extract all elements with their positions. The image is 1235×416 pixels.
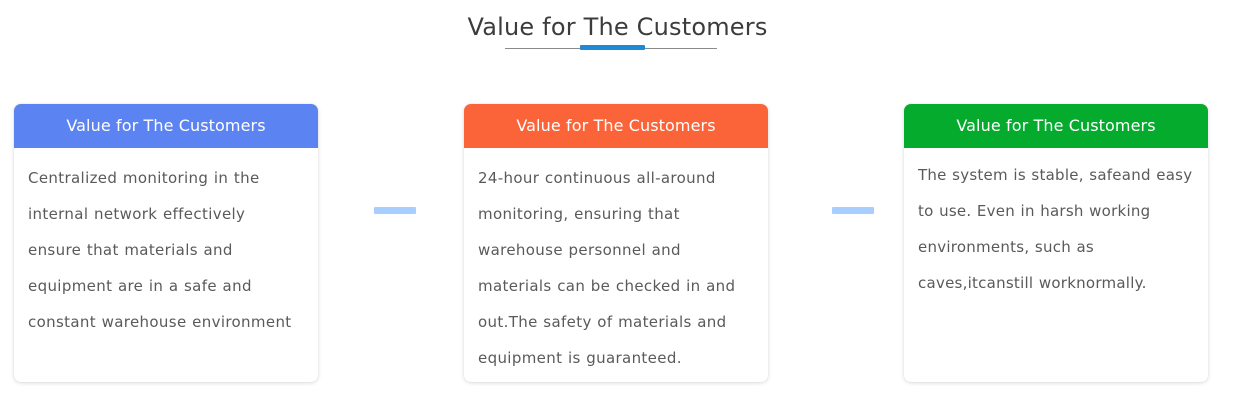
- page-title-text: Value for The Customers: [0, 10, 1235, 44]
- card-1[interactable]: Value for The Customers Centralized moni…: [14, 104, 318, 382]
- connector-2-3-icon: [832, 207, 874, 214]
- value-for-customers-slide: { "heading": { "title": "Value for The C…: [0, 0, 1235, 416]
- title-divider-accent: [580, 45, 645, 50]
- card-3-header: Value for The Customers: [904, 104, 1208, 148]
- card-2-body: 24-hour continuous all-around monitoring…: [464, 148, 768, 376]
- card-1-header: Value for The Customers: [14, 104, 318, 148]
- card-3[interactable]: Value for The Customers The system is st…: [904, 104, 1208, 382]
- card-2-header: Value for The Customers: [464, 104, 768, 148]
- card-2[interactable]: Value for The Customers 24-hour continuo…: [464, 104, 768, 382]
- connector-1-2-icon: [374, 207, 416, 214]
- card-3-body: The system is stable, safeand easy to us…: [904, 148, 1208, 301]
- card-1-body: Centralized monitoring in the internal n…: [14, 148, 318, 340]
- page-title: Value for The Customers: [0, 10, 1235, 44]
- cards-row: Value for The Customers Centralized moni…: [0, 104, 1235, 394]
